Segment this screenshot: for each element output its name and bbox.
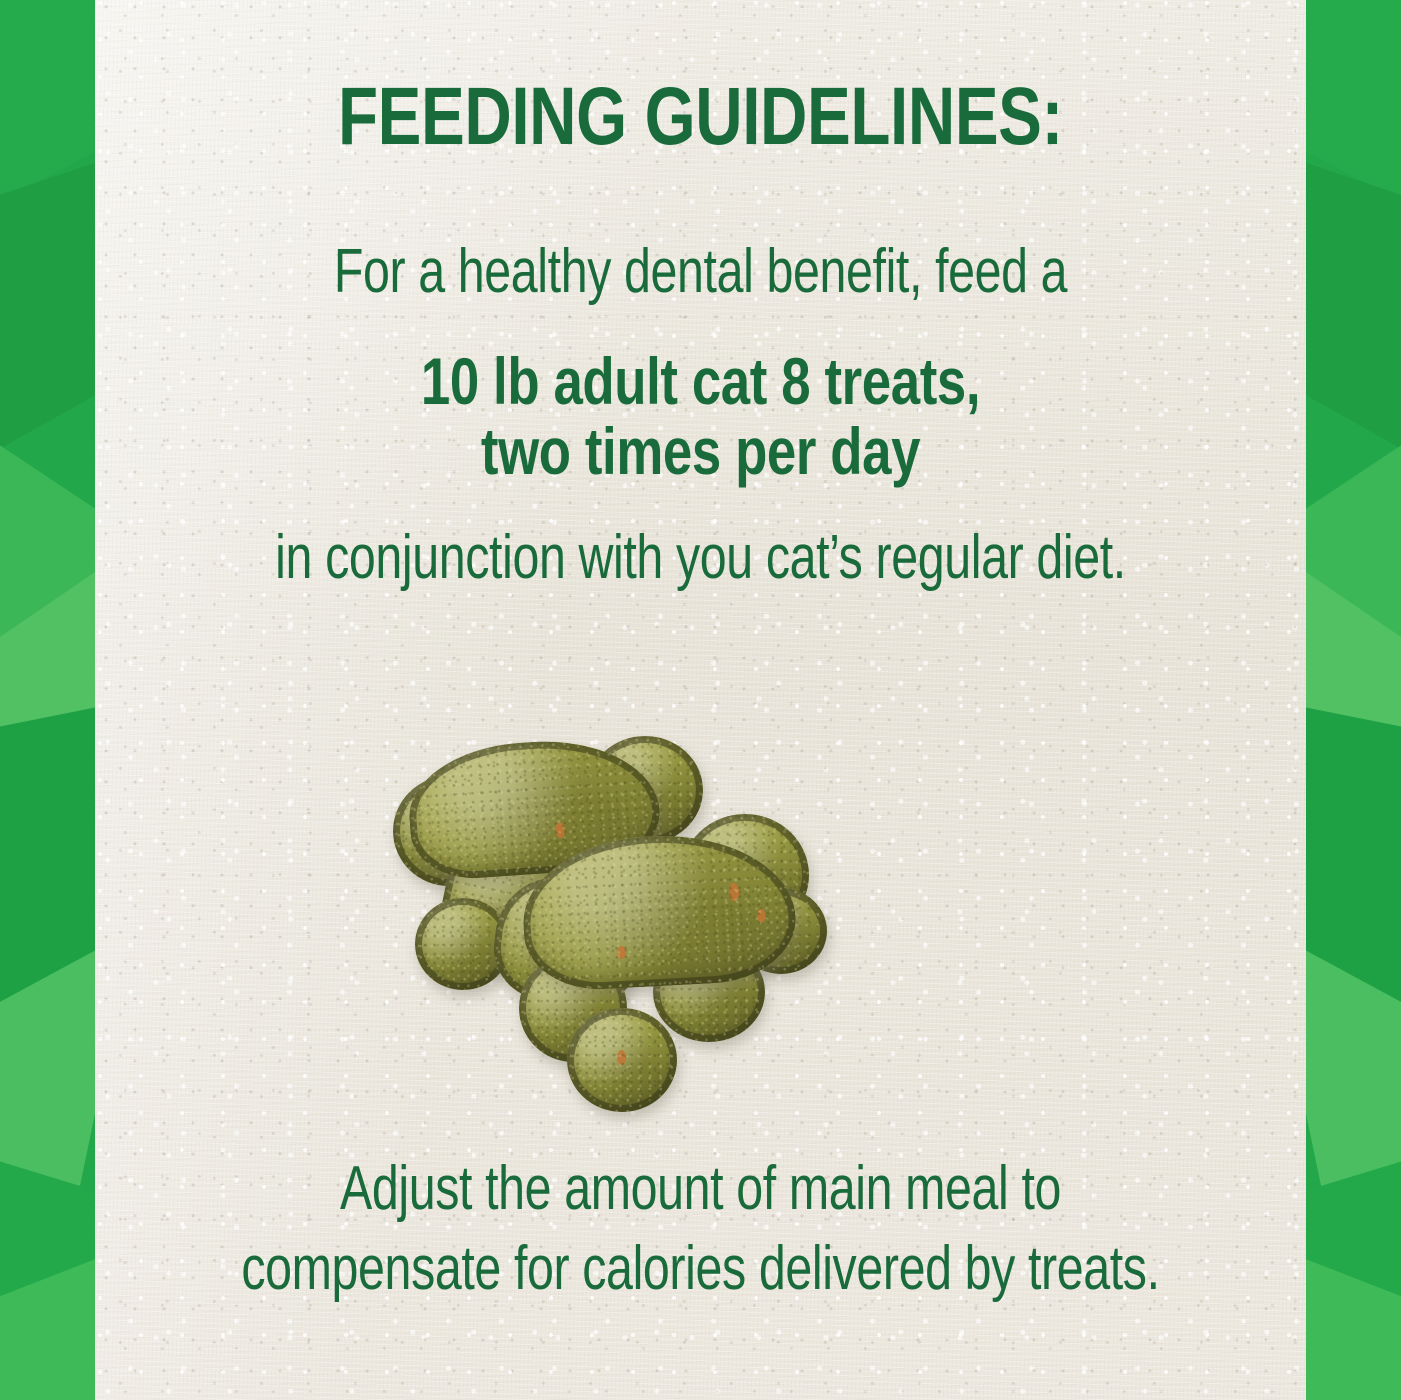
closing-text: in conjunction with you cat’s regular di… [185,527,1215,589]
dosage-line-1: 10 lb adult cat 8 treats, [172,347,1229,417]
treat-speck [555,822,565,839]
treat-lobe [567,1008,677,1112]
feeding-guidelines-panel: FEEDING GUIDELINES: For a healthy dental… [0,0,1401,1400]
intro-text: For a healthy dental benefit, feed a [185,241,1215,303]
dosage-emphasis: 10 lb adult cat 8 treats, two times per … [40,347,1361,487]
treat-speck [728,883,739,901]
footer-line-2: compensate for calories delivered by tre… [185,1238,1215,1300]
footer-line-1: Adjust the amount of main meal to [185,1158,1215,1220]
treat-speck [756,908,765,922]
treat-product-photo [391,718,821,1118]
treat-speck [617,1050,626,1065]
calorie-adjustment-note: Adjust the amount of main meal to compen… [40,1158,1361,1300]
feeding-instructions-block: For a healthy dental benefit, feed a 10 … [40,241,1361,589]
treat-speck [617,946,627,959]
panel-content: FEEDING GUIDELINES: For a healthy dental… [0,0,1401,1400]
dosage-line-2: two times per day [172,417,1229,487]
page-title: FEEDING GUIDELINES: [172,0,1229,157]
